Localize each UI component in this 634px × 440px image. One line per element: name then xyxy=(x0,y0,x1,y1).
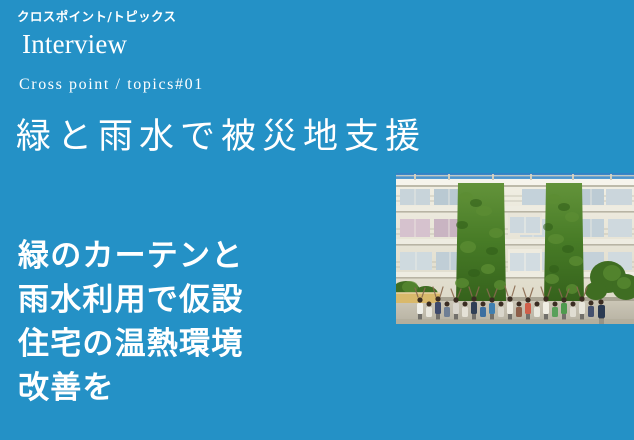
subhead-line-2: 雨水利用で仮設 xyxy=(18,278,243,322)
subhead-line-1: 緑のカーテンと xyxy=(18,234,243,278)
interview-wordmark: Interview xyxy=(22,29,127,60)
topics-slide: クロスポイント/トピックス Interview Cross point / to… xyxy=(0,0,634,440)
green-curtain-school-photo xyxy=(396,173,634,324)
subhead-line-3: 住宅の温熱環境 xyxy=(18,322,243,366)
page-title: 緑と雨水で被災地支援 xyxy=(16,118,426,157)
subhead-line-4: 改善を xyxy=(18,366,243,410)
eyebrow-label: クロスポイント/トピックス xyxy=(17,6,176,25)
topic-number-label: Cross point / topics#01 xyxy=(19,76,204,94)
subhead-block: 緑のカーテンと 雨水利用で仮設 住宅の温熱環境 改善を xyxy=(18,234,243,410)
